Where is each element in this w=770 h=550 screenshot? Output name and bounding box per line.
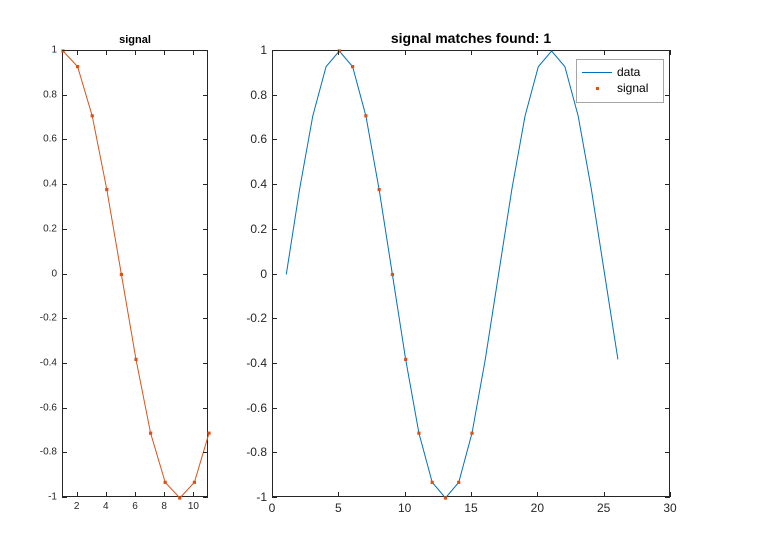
x-tick-label: 30 xyxy=(663,501,676,515)
series-marker-signal xyxy=(364,114,367,117)
y-tickmark xyxy=(272,452,277,453)
y-tickmark xyxy=(272,139,277,140)
y-tickmark xyxy=(62,408,67,409)
y-tick-label: 0.6 xyxy=(227,132,267,146)
x-tick-label: 15 xyxy=(464,501,477,515)
y-tickmark xyxy=(665,95,670,96)
series-marker-signal xyxy=(76,65,79,68)
y-tick-label: -0.6 xyxy=(17,402,57,413)
y-tick-label: 0.8 xyxy=(227,88,267,102)
y-tick-label: -0.4 xyxy=(227,356,267,370)
y-tickmark xyxy=(272,318,277,319)
y-tick-label: -0.8 xyxy=(17,447,57,458)
y-tick-label: -0.6 xyxy=(227,401,267,415)
y-tickmark xyxy=(272,95,277,96)
x-tickmark xyxy=(604,50,605,55)
series-marker-signal xyxy=(164,481,167,484)
legend-entry-label: signal xyxy=(617,81,648,95)
series-marker-signal xyxy=(120,273,123,276)
y-tick-label: 0.4 xyxy=(17,179,57,190)
y-tickmark xyxy=(665,184,670,185)
x-tickmark xyxy=(106,492,107,497)
y-tickmark xyxy=(665,363,670,364)
x-tickmark xyxy=(670,50,671,55)
y-tickmark xyxy=(665,229,670,230)
series-marker-signal xyxy=(207,432,210,435)
x-tickmark xyxy=(164,50,165,55)
y-tick-label: 0.4 xyxy=(227,177,267,191)
x-tickmark xyxy=(405,50,406,55)
x-tick-label: 0 xyxy=(269,501,276,515)
right-axes-legend[interactable]: data signal xyxy=(576,59,664,103)
y-tickmark xyxy=(203,139,208,140)
y-tick-label: 0.8 xyxy=(17,89,57,100)
series-marker-signal xyxy=(470,432,473,435)
y-tick-label: 0 xyxy=(227,267,267,281)
y-tick-label: -0.4 xyxy=(17,357,57,368)
series-marker-signal xyxy=(134,358,137,361)
series-line-signal xyxy=(63,51,209,498)
series-marker-signal xyxy=(149,432,152,435)
left-axes-title: signal xyxy=(62,34,208,46)
y-tickmark xyxy=(203,318,208,319)
y-tickmark xyxy=(62,318,67,319)
x-tickmark xyxy=(272,492,273,497)
x-tickmark xyxy=(537,50,538,55)
left-plot-surface xyxy=(63,51,209,498)
legend-entry-signal[interactable]: signal xyxy=(582,80,657,96)
left-signal-axes[interactable] xyxy=(62,50,208,497)
y-tickmark xyxy=(203,497,208,498)
y-tickmark xyxy=(665,318,670,319)
y-tick-label: 0.2 xyxy=(227,222,267,236)
y-tick-label: 0.2 xyxy=(17,223,57,234)
series-marker-signal xyxy=(378,188,381,191)
y-tickmark xyxy=(272,229,277,230)
series-marker-signal xyxy=(444,496,447,499)
y-tickmark xyxy=(203,408,208,409)
y-tickmark xyxy=(665,408,670,409)
x-tick-label: 20 xyxy=(531,501,544,515)
y-tickmark xyxy=(62,139,67,140)
x-tickmark xyxy=(135,50,136,55)
series-marker-signal xyxy=(417,432,420,435)
y-tickmark xyxy=(272,184,277,185)
series-line-data xyxy=(286,51,618,498)
x-tickmark xyxy=(106,50,107,55)
right-matches-axes[interactable] xyxy=(272,50,670,497)
x-tick-label: 2 xyxy=(74,501,80,512)
y-tickmark xyxy=(203,229,208,230)
x-tick-label: 25 xyxy=(597,501,610,515)
x-tickmark xyxy=(338,50,339,55)
series-marker-signal xyxy=(351,65,354,68)
y-tick-label: -0.8 xyxy=(227,445,267,459)
series-marker-signal xyxy=(193,481,196,484)
y-tickmark xyxy=(203,95,208,96)
series-marker-signal xyxy=(391,273,394,276)
y-tick-label: 1 xyxy=(17,45,57,56)
x-tick-label: 6 xyxy=(132,501,138,512)
x-tickmark xyxy=(164,492,165,497)
x-tickmark xyxy=(77,492,78,497)
y-tick-label: -1 xyxy=(227,490,267,504)
y-tickmark xyxy=(203,274,208,275)
y-tick-label: -0.2 xyxy=(17,313,57,324)
y-tickmark xyxy=(665,452,670,453)
y-tickmark xyxy=(272,408,277,409)
y-tickmark xyxy=(62,50,67,51)
x-tick-label: 10 xyxy=(398,501,411,515)
x-tick-label: 5 xyxy=(335,501,342,515)
series-marker-signal xyxy=(431,481,434,484)
series-marker-signal xyxy=(105,188,108,191)
series-marker-signal xyxy=(91,114,94,117)
y-tickmark xyxy=(62,184,67,185)
x-tickmark xyxy=(338,492,339,497)
y-tickmark xyxy=(272,363,277,364)
y-tickmark xyxy=(665,497,670,498)
x-tick-label: 8 xyxy=(161,501,167,512)
y-tickmark xyxy=(62,363,67,364)
right-plot-surface xyxy=(273,51,671,498)
y-tick-label: -0.2 xyxy=(227,311,267,325)
x-tickmark xyxy=(193,50,194,55)
x-tickmark xyxy=(77,50,78,55)
y-tickmark xyxy=(665,139,670,140)
x-tickmark xyxy=(471,492,472,497)
x-tickmark xyxy=(537,492,538,497)
series-marker-signal xyxy=(457,481,460,484)
y-tickmark xyxy=(203,363,208,364)
y-tick-label: -1 xyxy=(17,492,57,503)
series-marker-signal xyxy=(178,496,181,499)
series-marker-signal xyxy=(404,358,407,361)
y-tick-label: 1 xyxy=(227,43,267,57)
x-tickmark xyxy=(135,492,136,497)
x-tickmark xyxy=(193,492,194,497)
legend-entry-data[interactable]: data xyxy=(582,64,657,80)
x-tick-label: 10 xyxy=(188,501,199,512)
y-tick-label: 0.6 xyxy=(17,134,57,145)
y-tickmark xyxy=(62,274,67,275)
y-tickmark xyxy=(62,497,67,498)
x-tickmark xyxy=(670,492,671,497)
right-axes-title: signal matches found: 1 xyxy=(272,30,670,46)
y-tickmark xyxy=(272,274,277,275)
y-tickmark xyxy=(62,229,67,230)
x-tickmark xyxy=(471,50,472,55)
matlab-figure-canvas: signal -1-0.8-0.6-0.4-0.200.20.40.60.812… xyxy=(0,0,770,550)
legend-line-swatch xyxy=(582,66,612,78)
x-tickmark xyxy=(405,492,406,497)
y-tickmark xyxy=(62,452,67,453)
y-tickmark xyxy=(203,452,208,453)
y-tickmark xyxy=(203,50,208,51)
legend-marker-swatch xyxy=(582,82,612,94)
y-tickmark xyxy=(272,497,277,498)
x-tickmark xyxy=(604,492,605,497)
x-tick-label: 4 xyxy=(103,501,109,512)
y-tickmark xyxy=(62,95,67,96)
y-tickmark xyxy=(665,274,670,275)
y-tick-label: 0 xyxy=(17,268,57,279)
x-tickmark xyxy=(272,50,273,55)
legend-entry-label: data xyxy=(617,65,640,79)
y-tickmark xyxy=(203,184,208,185)
